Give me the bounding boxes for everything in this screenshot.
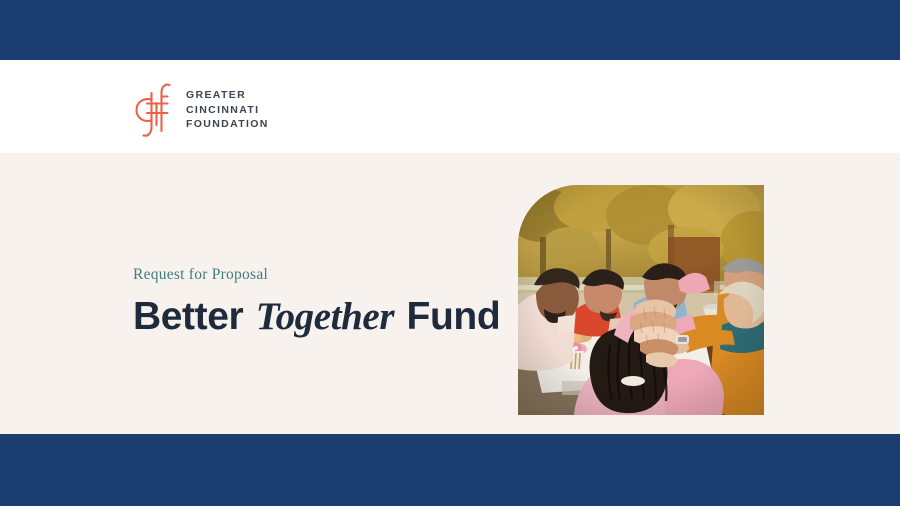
eyebrow-label: Request for Proposal xyxy=(133,266,500,284)
greater-cincinnati-foundation-logo[interactable]: Greater Cincinnati Foundation xyxy=(131,79,269,141)
rfp-cover-slide: Greater Cincinnati Foundation Request fo… xyxy=(0,0,900,506)
title-word-fund: Fund xyxy=(407,295,501,338)
headline-block: Request for Proposal Better Together Fun… xyxy=(133,266,500,337)
title-word-together: Together xyxy=(254,295,396,338)
logo-wordmark: Greater Cincinnati Foundation xyxy=(186,88,269,133)
gcf-monogram-icon xyxy=(131,79,175,141)
logo-wordmark-line-2: Cincinnati xyxy=(186,103,269,118)
hero-photo xyxy=(518,185,764,415)
people-joining-hands-image xyxy=(518,185,764,415)
logo-wordmark-line-1: Greater xyxy=(186,88,269,103)
bottom-navy-band xyxy=(0,434,900,506)
top-navy-band xyxy=(0,0,900,60)
page-title: Better Together Fund xyxy=(133,297,500,337)
title-word-better: Better xyxy=(133,295,243,338)
logo-wordmark-line-3: Foundation xyxy=(186,117,269,132)
